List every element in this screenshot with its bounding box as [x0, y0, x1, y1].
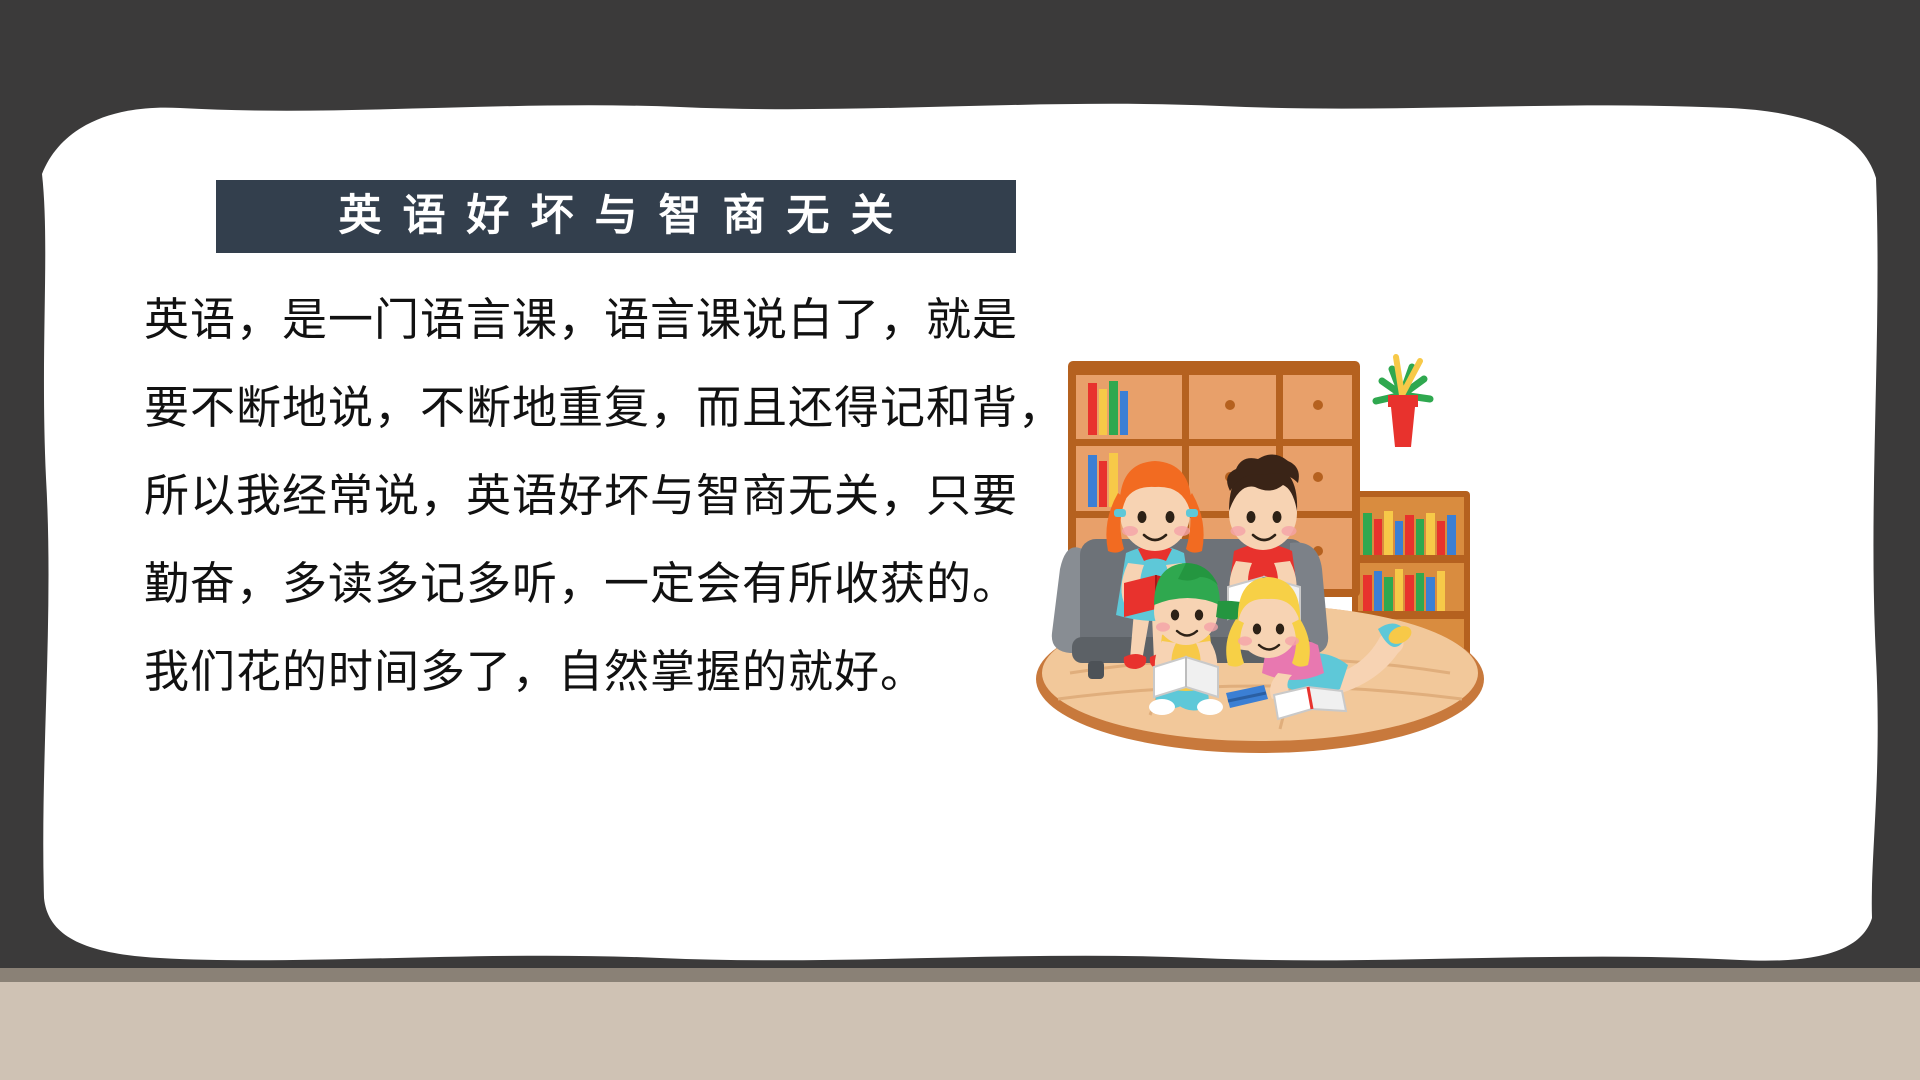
illustration-svg	[1030, 343, 1490, 763]
body-line: 所以我经常说，英语好坏与智商无关，只要	[144, 452, 1074, 540]
body-paragraph: 英语，是一门语言课，语言课说白了，就是 要不断地说，不断地重复，而且还得记和背，…	[144, 276, 1074, 716]
slide-background-bottom	[0, 968, 1920, 1080]
body-line: 要不断地说，不断地重复，而且还得记和背，	[144, 364, 1074, 452]
slide-background-bottom-shadow	[0, 968, 1920, 982]
potted-plant-icon	[1376, 357, 1430, 447]
body-line: 我们花的时间多了，自然掌握的就好。	[144, 628, 1074, 716]
content-card: 英语好坏与智商无关 英语，是一门语言课，语言课说白了，就是 要不断地说，不断地重…	[40, 98, 1880, 968]
page-title: 英语好坏与智商无关	[318, 195, 915, 238]
children-reading-books-illustration	[1030, 343, 1490, 763]
body-line: 勤奋，多读多记多听，一定会有所收获的。	[144, 540, 1074, 628]
body-line: 英语，是一门语言课，语言课说白了，就是	[144, 276, 1074, 364]
section-title-bar: 英语好坏与智商无关	[216, 180, 1016, 253]
